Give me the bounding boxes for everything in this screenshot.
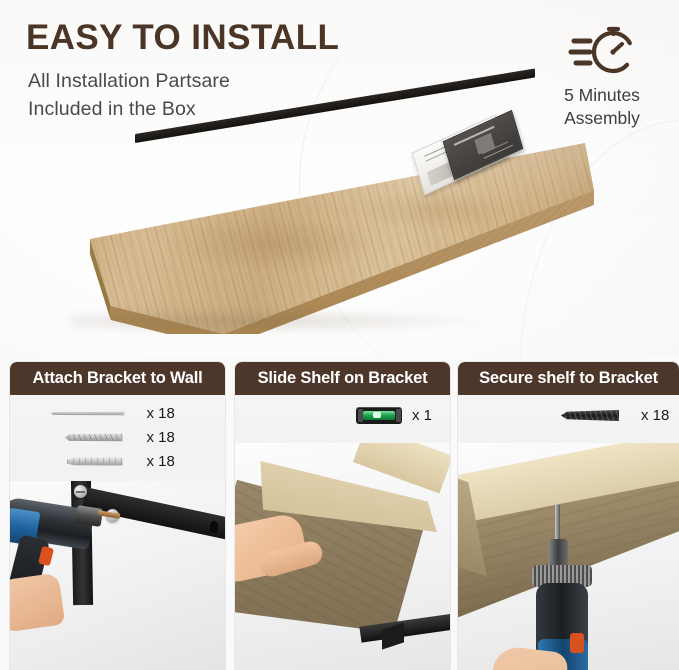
shelf-shadow [70,308,490,334]
step-2-header: Slide Shelf on Bracket [235,362,450,395]
level-cap-right [396,409,401,422]
bubble-level-icon [356,407,402,424]
part-row: x 18 [10,425,225,449]
hero-section: EASY TO INSTALL All Installation Partsar… [0,0,679,356]
part-row: x 18 [10,401,225,425]
drill-bit [555,505,560,543]
stopwatch-speed-icon [537,18,667,78]
level-cap-left [358,409,363,422]
step-2-body: x 1 [235,395,450,670]
step-1-header-label: Attach Bracket to Wall [32,369,202,388]
drill-trigger [38,546,54,566]
level-bubble [373,412,381,418]
shelf-end-grain [353,443,450,494]
hand-holding-drill [10,573,65,634]
step-3-body: x 18 [458,395,679,670]
step-3-header-label: Secure shelf to Bracket [479,369,658,388]
step-panel-1: Attach Bracket to Wall x 18 x 18 [10,362,225,670]
step-3-photo [458,443,679,670]
step-2-photo [235,443,450,670]
step-3-parts-list: x 18 [458,403,679,427]
step-1-parts-list: x 18 x 18 x 18 [10,401,225,473]
part-quantity: x 18 [147,405,185,422]
wall-anchor-icon [51,451,137,471]
long-screw-icon [51,403,137,423]
installation-steps: Attach Bracket to Wall x 18 x 18 [0,362,679,670]
bracket-screw-head-top [74,485,87,498]
step-3-header: Secure shelf to Bracket [458,362,679,395]
part-quantity: x 1 [412,407,450,424]
step-1-body: x 18 x 18 x 18 [10,395,225,670]
product-photo [0,112,679,356]
page-title: EASY TO INSTALL [26,20,339,57]
subtitle-line-1: All Installation Partsare [28,68,230,96]
bracket-hole [210,521,218,533]
dark-wood-screw-icon [545,405,631,425]
step-panel-3: Secure shelf to Bracket x 18 [458,362,679,670]
step-2-header-label: Slide Shelf on Bracket [258,369,428,388]
wood-screw-icon [51,427,137,447]
drill-chuck [75,505,103,527]
part-quantity: x 18 [147,429,185,446]
part-row: x 18 [10,449,225,473]
drill-trigger [570,633,584,653]
part-quantity: x 18 [641,407,679,424]
step-1-photo [10,481,225,670]
part-row: x 1 [235,403,450,427]
step-panel-2: Slide Shelf on Bracket x 1 [235,362,450,670]
part-row: x 18 [458,403,679,427]
part-quantity: x 18 [147,453,185,470]
badge-line-1: 5 Minutes [537,84,667,107]
book-props [414,119,539,189]
step-2-parts-list: x 1 [235,403,450,427]
step-1-header: Attach Bracket to Wall [10,362,225,395]
